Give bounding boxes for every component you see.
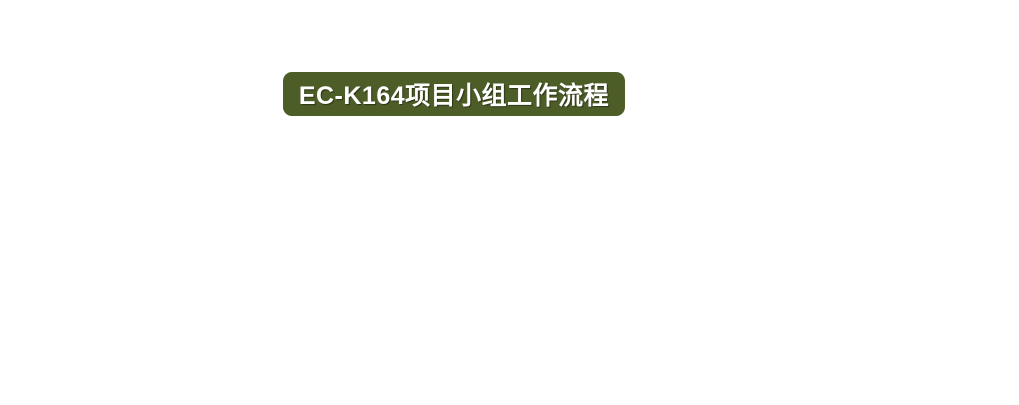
flowchart-canvas: EC-K164项目小组工作流程 bbox=[0, 0, 1019, 405]
chart-title-banner: EC-K164项目小组工作流程 bbox=[283, 72, 625, 116]
page-title: EC-K164项目小组工作流程 bbox=[299, 76, 609, 112]
